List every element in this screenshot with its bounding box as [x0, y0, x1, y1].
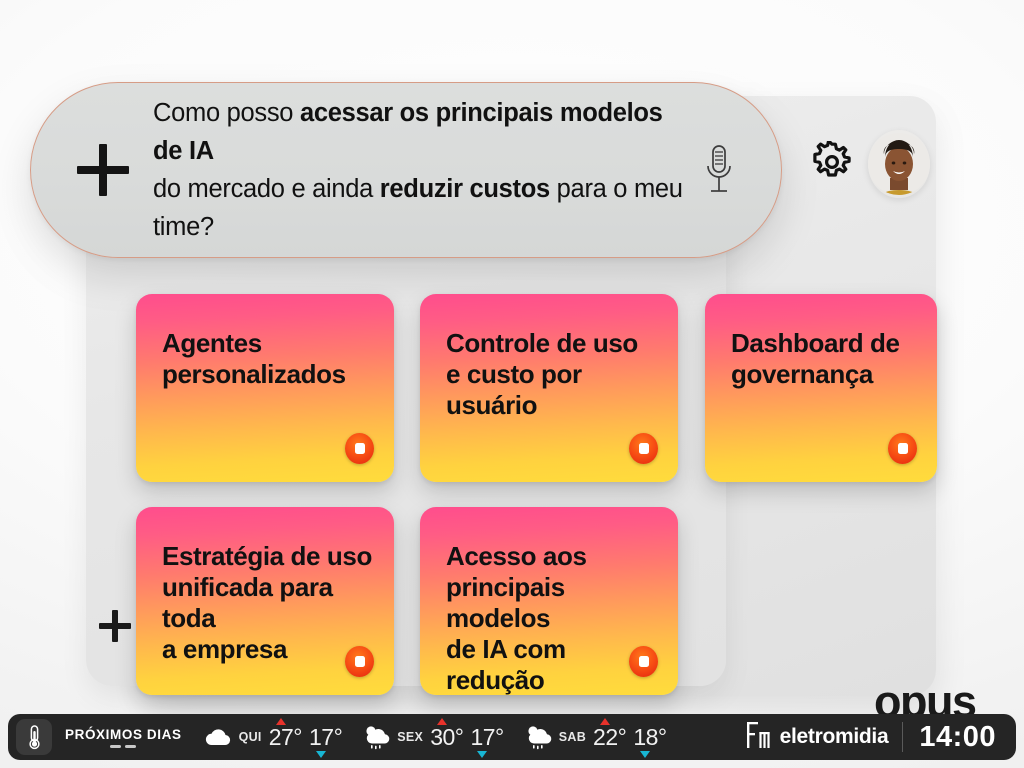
gear-icon [811, 141, 853, 188]
brand-name: eletromidia [780, 725, 889, 749]
forecast-list: QUI 27° 17° [204, 724, 667, 750]
screen: Como posso acessar os principais modelos… [0, 0, 1024, 768]
eletromidia-brand: eletromidia [746, 720, 903, 755]
suggestion-card[interactable]: Agentes personalizados [136, 294, 394, 482]
stop-icon[interactable] [888, 433, 917, 464]
temp-down-icon [316, 751, 326, 758]
forecast-low: 17° [470, 725, 503, 750]
clock: 14:00 [903, 721, 1010, 754]
forecast-item: SEX 30° 17° [362, 724, 503, 750]
stop-icon[interactable] [629, 433, 658, 464]
sun-cloud-rain-icon [362, 724, 390, 750]
eletromidia-logo-icon [746, 720, 771, 755]
card-title: Acesso aos principais modelos de IA com … [446, 541, 656, 695]
forecast-label: PRÓXIMOS DIAS [65, 727, 182, 742]
forecast-high: 22° [593, 725, 626, 750]
card-title: Agentes personalizados [162, 328, 372, 390]
sun-cloud-rain-icon [524, 724, 552, 750]
temp-down-icon [477, 751, 487, 758]
avatar[interactable] [868, 130, 930, 198]
stop-icon[interactable] [629, 646, 658, 677]
suggestion-card[interactable]: Estratégia de uso unificada para toda a … [136, 507, 394, 695]
temp-up-icon [437, 718, 447, 725]
card-title: Controle de uso e custo por usuário [446, 328, 656, 421]
cloud-icon [204, 724, 232, 750]
prompt-line2-pre: do mercado e ainda [153, 175, 380, 203]
stop-icon[interactable] [345, 646, 374, 677]
settings-button[interactable] [810, 142, 854, 186]
forecast-high: 27° [269, 725, 302, 750]
forecast-dashes-icon [110, 745, 136, 748]
status-bar: PRÓXIMOS DIAS QUI 27° 17° [8, 714, 1016, 760]
prompt-bar[interactable]: Como posso acessar os principais modelos… [30, 82, 782, 258]
thermometer-icon [16, 719, 52, 755]
suggestion-card[interactable]: Dashboard de governança [705, 294, 937, 482]
suggestion-card[interactable]: Acesso aos principais modelos de IA com … [420, 507, 678, 695]
forecast-label-group: PRÓXIMOS DIAS [65, 727, 182, 748]
forecast-low: 18° [633, 725, 666, 750]
forecast-day: QUI [239, 730, 262, 744]
add-prompt-icon[interactable] [77, 144, 129, 196]
stop-icon[interactable] [345, 433, 374, 464]
temp-down-icon [640, 751, 650, 758]
temp-up-icon [276, 718, 286, 725]
suggestion-card[interactable]: Controle de uso e custo por usuário [420, 294, 678, 482]
prompt-text: Como posso acessar os principais modelos… [153, 94, 689, 246]
forecast-item: SAB 22° 18° [524, 724, 667, 750]
card-title: Estratégia de uso unificada para toda a … [162, 541, 372, 665]
microphone-icon[interactable] [697, 140, 741, 200]
forecast-day: SEX [397, 730, 423, 744]
temp-up-icon [600, 718, 610, 725]
prompt-line2-bold: reduzir custos [380, 175, 550, 203]
card-title: Dashboard de governança [731, 328, 915, 390]
forecast-item: QUI 27° 17° [204, 724, 343, 750]
prompt-line1-pre: Como posso [153, 99, 300, 127]
forecast-day: SAB [559, 730, 586, 744]
forecast-high: 30° [430, 725, 463, 750]
forecast-low: 17° [309, 725, 342, 750]
add-card-icon[interactable] [99, 610, 131, 642]
